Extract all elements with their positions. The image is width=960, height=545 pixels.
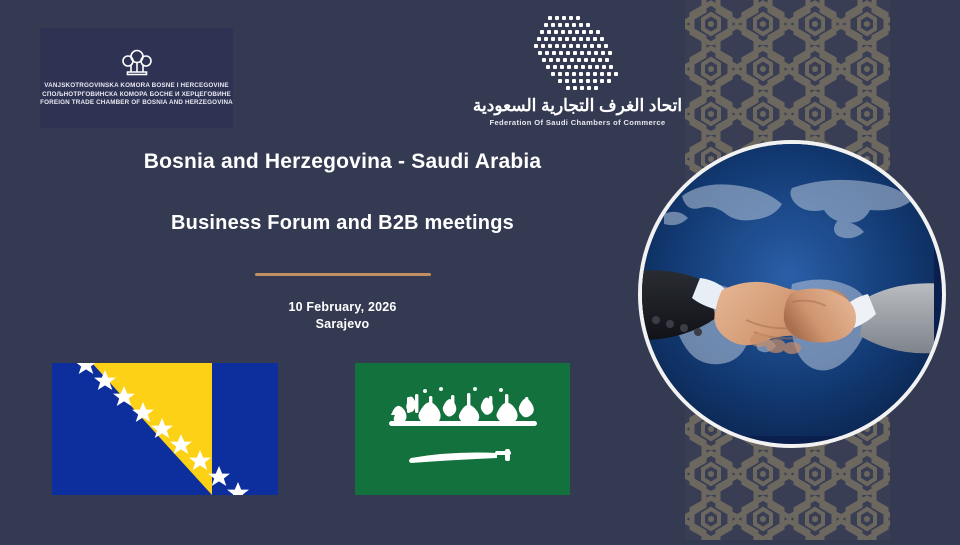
chamber-name-bs: VANJSKOTRGOVINSKA KOMORA BOSNE I HERCEGO… bbox=[40, 82, 233, 91]
event-city: Sarajevo bbox=[316, 317, 370, 331]
event-date: 10 February, 2026 bbox=[288, 300, 396, 314]
event-text-block: Bosnia and Herzegovina - Saudi Arabia Bu… bbox=[0, 150, 685, 331]
chamber-name-en: FOREIGN TRADE CHAMBER OF BOSNIA AND HERZ… bbox=[40, 99, 233, 108]
handshake-over-world-map-image bbox=[638, 140, 946, 448]
federation-name-english: Federation Of Saudi Chambers of Commerce bbox=[489, 118, 665, 127]
saudi-flag-icon bbox=[355, 363, 570, 495]
foreign-trade-chamber-logo: VANJSKOTRGOVINSKA KOMORA BOSNE I HERCEGO… bbox=[40, 28, 233, 128]
event-title-line2: Business Forum and B2B meetings bbox=[171, 212, 514, 235]
chamber-tree-emblem-icon bbox=[120, 48, 154, 78]
handshake-globe-illustration-icon bbox=[642, 144, 934, 436]
saudi-arabia-dotted-map-icon bbox=[518, 12, 638, 100]
federation-name-arabic: اتحاد الغرف التجارية السعودية bbox=[473, 96, 682, 116]
federation-saudi-chambers-logo: اتحاد الغرف التجارية السعودية Federation… bbox=[470, 12, 685, 132]
title-divider bbox=[255, 273, 431, 276]
flag-saudi-arabia bbox=[355, 363, 570, 495]
chamber-name-sr: СПОЉНОТРГОВИНСКА КОМОРА БОСНЕ И ХЕРЦЕГОВ… bbox=[40, 91, 233, 100]
event-poster: VANJSKOTRGOVINSKA KOMORA BOSNE I HERCEGO… bbox=[0, 0, 960, 540]
bosnia-flag-icon bbox=[52, 363, 278, 495]
flag-bosnia-and-herzegovina bbox=[52, 363, 278, 495]
event-title-line1: Bosnia and Herzegovina - Saudi Arabia bbox=[144, 150, 542, 174]
